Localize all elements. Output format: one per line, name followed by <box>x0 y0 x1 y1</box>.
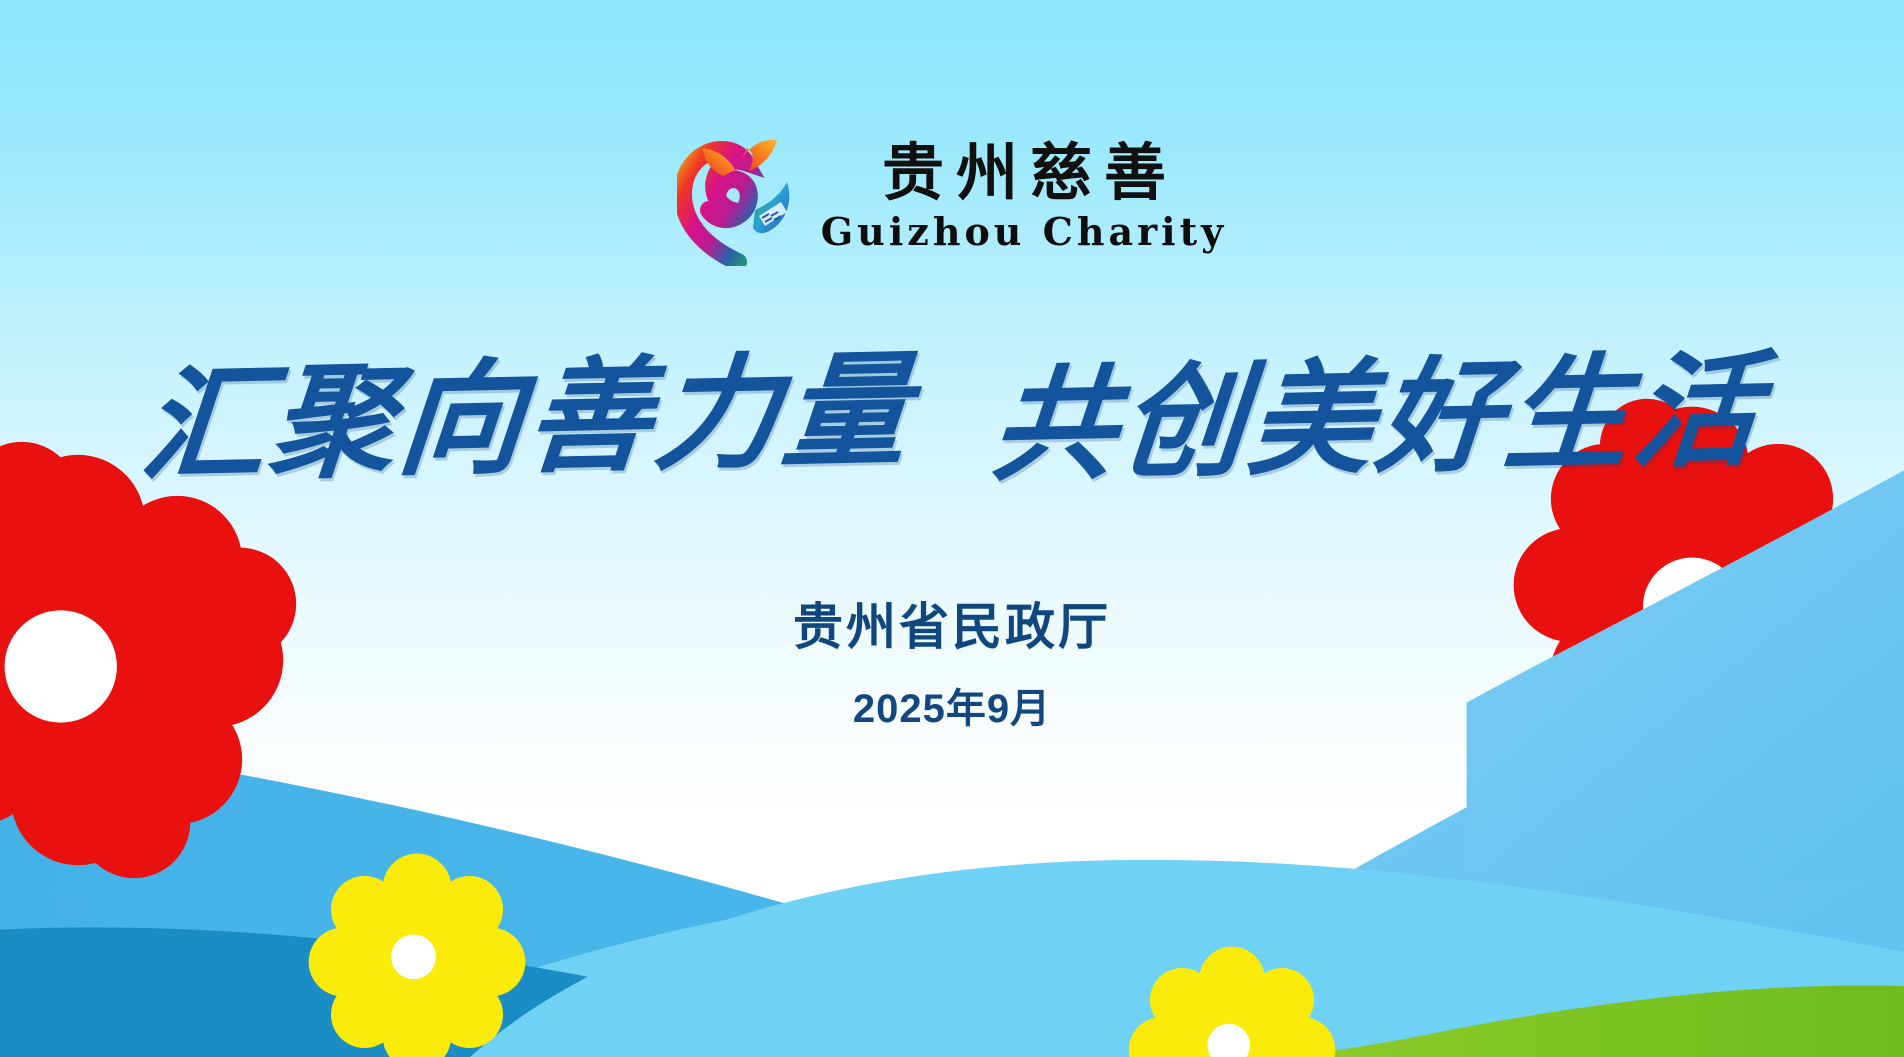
slide-headline: 汇聚向善力量 共创美好生活 <box>0 352 1904 486</box>
hill-deep-blue <box>0 927 1020 1057</box>
hill-mid-blue <box>0 735 1500 1057</box>
guizhou-charity-flame-heart-logo-icon <box>677 124 799 266</box>
presentation-date: 2025年9月 <box>0 676 1904 734</box>
brand-logo-block: 贵州慈善 Guizhou Charity <box>0 124 1904 266</box>
organization-block: 贵州省民政厅 2025年9月 <box>0 595 1904 734</box>
grass-green <box>1282 985 1904 1057</box>
headline-line-b: 共创美好生活 <box>987 344 1768 494</box>
valley-white-highlight <box>470 860 1904 1057</box>
organization-name: 贵州省民政厅 <box>0 595 1904 660</box>
brand-name-cn: 贵州慈善 <box>870 139 1178 207</box>
hill-light-blue <box>360 872 1904 1057</box>
yellow-flower-bottom-right <box>1129 947 1336 1057</box>
brand-wordmark: 贵州慈善 Guizhou Charity <box>821 139 1228 251</box>
cover-slide: 贵州慈善 Guizhou Charity 汇聚向善力量 共创美好生活 贵州省民政… <box>0 0 1904 1057</box>
yellow-flower-bottom-left <box>309 854 526 1057</box>
brand-name-en: Guizhou Charity <box>821 213 1228 251</box>
headline-line-a: 汇聚向善力量 <box>136 344 917 494</box>
